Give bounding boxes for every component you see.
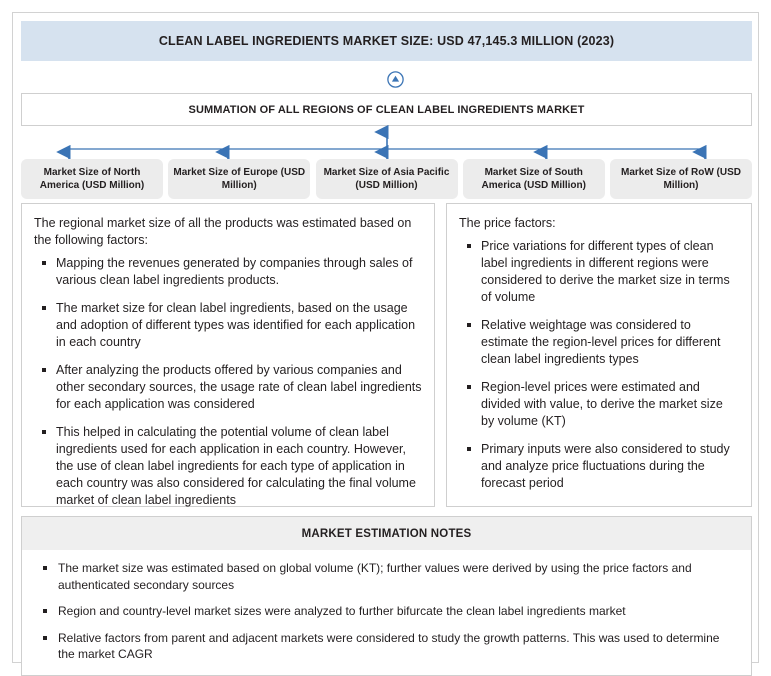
region-box-row[interactable]: Market Size of RoW (USD Million) <box>610 159 752 199</box>
list-item-text: Relative weightage was considered to est… <box>481 318 720 366</box>
notes-body: The market size was estimated based on g… <box>22 550 751 675</box>
diagram-frame: CLEAN LABEL INGREDIENTS MARKET SIZE: USD… <box>12 12 759 663</box>
list-item: After analyzing the products offered by … <box>56 362 422 413</box>
square-bullet-icon <box>43 636 47 640</box>
notes-header: MARKET ESTIMATION NOTES <box>22 517 751 550</box>
square-bullet-icon <box>42 261 46 265</box>
notes-bullet-list: The market size was estimated based on g… <box>36 560 737 663</box>
square-bullet-icon <box>467 385 471 389</box>
list-item: This helped in calculating the potential… <box>56 424 422 509</box>
square-bullet-icon <box>42 368 46 372</box>
list-item: Primary inputs were also considered to s… <box>481 441 739 492</box>
square-bullet-icon <box>43 566 47 570</box>
square-bullet-icon <box>467 323 471 327</box>
region-box-south-america[interactable]: Market Size of South America (USD Millio… <box>463 159 605 199</box>
list-item: The market size was estimated based on g… <box>58 560 737 593</box>
region-boxes-row: Market Size of North America (USD Millio… <box>21 159 752 199</box>
square-bullet-icon <box>43 609 47 613</box>
list-item-text: Relative factors from parent and adjacen… <box>58 631 719 662</box>
page-title: CLEAN LABEL INGREDIENTS MARKET SIZE: USD… <box>159 34 614 48</box>
right-panel-bullet-list: Price variations for different types of … <box>459 238 739 492</box>
list-item-text: Mapping the revenues generated by compan… <box>56 256 412 287</box>
list-item: Price variations for different types of … <box>481 238 739 306</box>
region-label: Market Size of North America (USD Millio… <box>25 166 159 193</box>
list-item-text: Primary inputs were also considered to s… <box>481 442 730 490</box>
left-panel-bullet-list: Mapping the revenues generated by compan… <box>34 255 422 509</box>
list-item: Relative factors from parent and adjacen… <box>58 630 737 663</box>
right-panel-intro: The price factors: <box>459 215 739 232</box>
list-item: Region-level prices were estimated and d… <box>481 379 739 430</box>
region-label: Market Size of Asia Pacific (USD Million… <box>320 166 454 193</box>
list-item-text: Region and country-level market sizes we… <box>58 604 626 618</box>
price-factors-panel: The price factors: Price variations for … <box>446 203 752 507</box>
region-box-asia-pacific[interactable]: Market Size of Asia Pacific (USD Million… <box>316 159 458 199</box>
region-label: Market Size of South America (USD Millio… <box>467 166 601 193</box>
summation-title: SUMMATION OF ALL REGIONS OF CLEAN LABEL … <box>189 104 585 116</box>
list-item-text: This helped in calculating the potential… <box>56 425 416 507</box>
summation-box: SUMMATION OF ALL REGIONS OF CLEAN LABEL … <box>21 93 752 126</box>
list-item-text: Region-level prices were estimated and d… <box>481 380 723 428</box>
list-item-text: The market size for clean label ingredie… <box>56 301 415 349</box>
list-item-text: After analyzing the products offered by … <box>56 363 422 411</box>
circle-up-arrow-icon[interactable] <box>387 71 404 88</box>
notes-title: MARKET ESTIMATION NOTES <box>302 528 472 540</box>
region-box-north-america[interactable]: Market Size of North America (USD Millio… <box>21 159 163 199</box>
regional-market-size-panel: The regional market size of all the prod… <box>21 203 435 507</box>
market-estimation-notes: MARKET ESTIMATION NOTES The market size … <box>21 516 752 676</box>
region-label: Market Size of Europe (USD Million) <box>172 166 306 193</box>
square-bullet-icon <box>467 244 471 248</box>
region-box-europe[interactable]: Market Size of Europe (USD Million) <box>168 159 310 199</box>
list-item: Mapping the revenues generated by compan… <box>56 255 422 289</box>
detail-panels: The regional market size of all the prod… <box>21 203 752 507</box>
square-bullet-icon <box>467 447 471 451</box>
square-bullet-icon <box>42 306 46 310</box>
list-item: The market size for clean label ingredie… <box>56 300 422 351</box>
region-label: Market Size of RoW (USD Million) <box>614 166 748 193</box>
square-bullet-icon <box>42 430 46 434</box>
list-item-text: The market size was estimated based on g… <box>58 561 692 592</box>
list-item: Relative weightage was considered to est… <box>481 317 739 368</box>
left-panel-intro: The regional market size of all the prod… <box>34 215 422 249</box>
list-item: Region and country-level market sizes we… <box>58 603 737 620</box>
list-item-text: Price variations for different types of … <box>481 239 730 304</box>
market-size-title-bar: CLEAN LABEL INGREDIENTS MARKET SIZE: USD… <box>21 21 752 61</box>
